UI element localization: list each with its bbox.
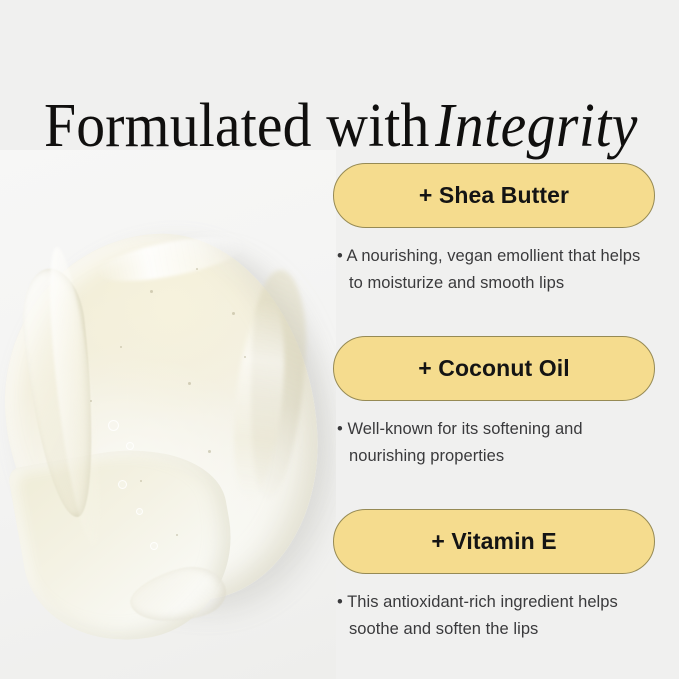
swatch-bubble [108,420,119,431]
swatch-speck [140,480,142,482]
ingredient-description-shea-butter: • A nourishing, vegan emollient that hel… [333,243,655,297]
swatch-speck [90,400,92,402]
swatch-speck [150,290,153,293]
ingredient-pill-shea-butter[interactable]: + Shea Butter [333,163,655,228]
ingredient-description-coconut-oil: • Well-known for its softening and nouri… [333,416,655,470]
swatch-bubble [136,508,143,515]
ingredient-list: + Shea Butter • A nourishing, vegan emol… [333,163,655,643]
ingredient-item-vitamin-e: + Vitamin E • This antioxidant-rich ingr… [333,509,655,643]
swatch-speck [120,346,122,348]
swatch-speck [232,312,235,315]
ingredient-pill-vitamin-e[interactable]: + Vitamin E [333,509,655,574]
ingredient-item-coconut-oil: + Coconut Oil • Well-known for its softe… [333,336,655,470]
ingredient-infographic: Formulated withIntegrity + Shea Butter •… [0,0,679,679]
ingredient-description-vitamin-e: • This antioxidant-rich ingredient helps… [333,589,655,643]
swatch-speck [244,356,246,358]
swatch-bubble [118,480,127,489]
cream-swatch-image [0,150,336,679]
swatch-speck [208,450,211,453]
swatch-bubble [126,442,134,450]
ingredient-item-shea-butter: + Shea Butter • A nourishing, vegan emol… [333,163,655,297]
swatch-bubble [150,542,158,550]
swatch-speck [176,534,178,536]
ingredient-pill-coconut-oil[interactable]: + Coconut Oil [333,336,655,401]
page-title-italic: Integrity [430,92,638,160]
swatch-speck [196,268,198,270]
swatch-speck [188,382,191,385]
